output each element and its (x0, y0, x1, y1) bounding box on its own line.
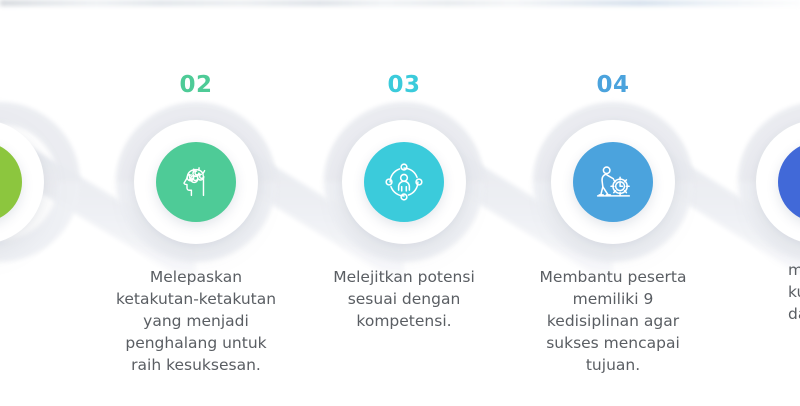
step-caption-04: Membantu peserta memiliki 9 kedisiplinan… (513, 266, 713, 376)
gear-lightbulb-icon (0, 159, 5, 205)
steps-layer: antu pikiran positif. 02 (0, 0, 800, 406)
step-badge-04[interactable] (573, 142, 653, 222)
step-number-02: 02 (116, 72, 276, 98)
step-caption-02: Melepaskan ketakutan-ketakutan yang menj… (96, 266, 296, 376)
step-caption-03: Melejitkan potensi sesuai dengan kompete… (304, 266, 504, 332)
step-badge-03[interactable] (364, 142, 444, 222)
person-network-icon (381, 159, 427, 205)
step-number-03: 03 (324, 72, 484, 98)
person-pushing-gear-clock-icon (590, 159, 636, 205)
head-mind-swirls-icon (173, 159, 219, 205)
step-number-04: 04 (533, 72, 693, 98)
step-badge-02[interactable] (156, 142, 236, 222)
infographic-canvas: antu pikiran positif. 02 (0, 0, 800, 406)
step-caption-05: men kunci dalam (788, 259, 800, 325)
compass-star-icon (795, 159, 800, 205)
